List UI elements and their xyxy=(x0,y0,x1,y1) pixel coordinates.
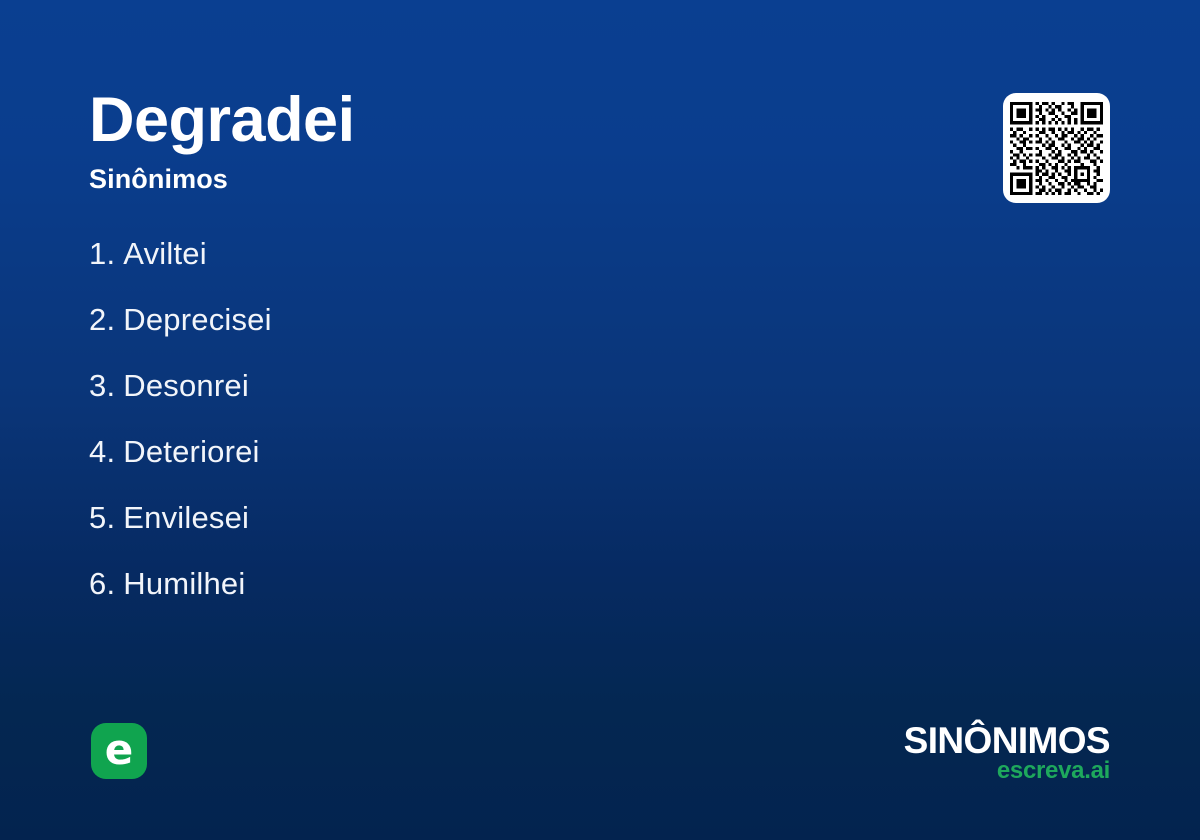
list-item-word: Humilhei xyxy=(123,566,245,601)
list-item-index: 4. xyxy=(89,434,115,469)
qr-code-icon xyxy=(1010,102,1103,195)
wordmark-primary: SINÔNIMOS xyxy=(904,722,1110,760)
list-item-index: 5. xyxy=(89,500,115,535)
badge-letter-e: e xyxy=(91,723,147,779)
list-item-index: 2. xyxy=(89,302,115,337)
list-item: 1.Aviltei xyxy=(89,234,969,274)
list-item: 6.Humilhei xyxy=(89,564,969,604)
list-item-word: Deteriorei xyxy=(123,434,259,469)
list-item-word: Aviltei xyxy=(123,236,207,271)
qr-code-panel[interactable] xyxy=(1003,93,1110,203)
list-item-index: 1. xyxy=(89,236,115,271)
synonym-list: 1.Aviltei 2.Deprecisei 3.Desonrei 4.Dete… xyxy=(89,234,969,630)
list-item: 5.Envilesei xyxy=(89,498,969,538)
wordmark-secondary: escreva.ai xyxy=(904,758,1110,784)
list-item: 4.Deteriorei xyxy=(89,432,969,472)
page-subtitle: Sinônimos xyxy=(89,162,949,196)
synonym-card: Degradei Sinônimos xyxy=(0,0,1200,840)
list-item-word: Desonrei xyxy=(123,368,249,403)
list-item-word: Deprecisei xyxy=(123,302,271,337)
page-title: Degradei xyxy=(89,86,949,154)
list-item-word: Envilesei xyxy=(123,500,249,535)
sinonimos-wordmark: SINÔNIMOS escreva.ai xyxy=(904,722,1110,784)
list-item-index: 3. xyxy=(89,368,115,403)
list-item-index: 6. xyxy=(89,566,115,601)
list-item: 2.Deprecisei xyxy=(89,300,969,340)
card-header: Degradei Sinônimos xyxy=(89,86,949,196)
list-item: 3.Desonrei xyxy=(89,366,969,406)
escreva-badge-logo: e xyxy=(91,723,147,779)
